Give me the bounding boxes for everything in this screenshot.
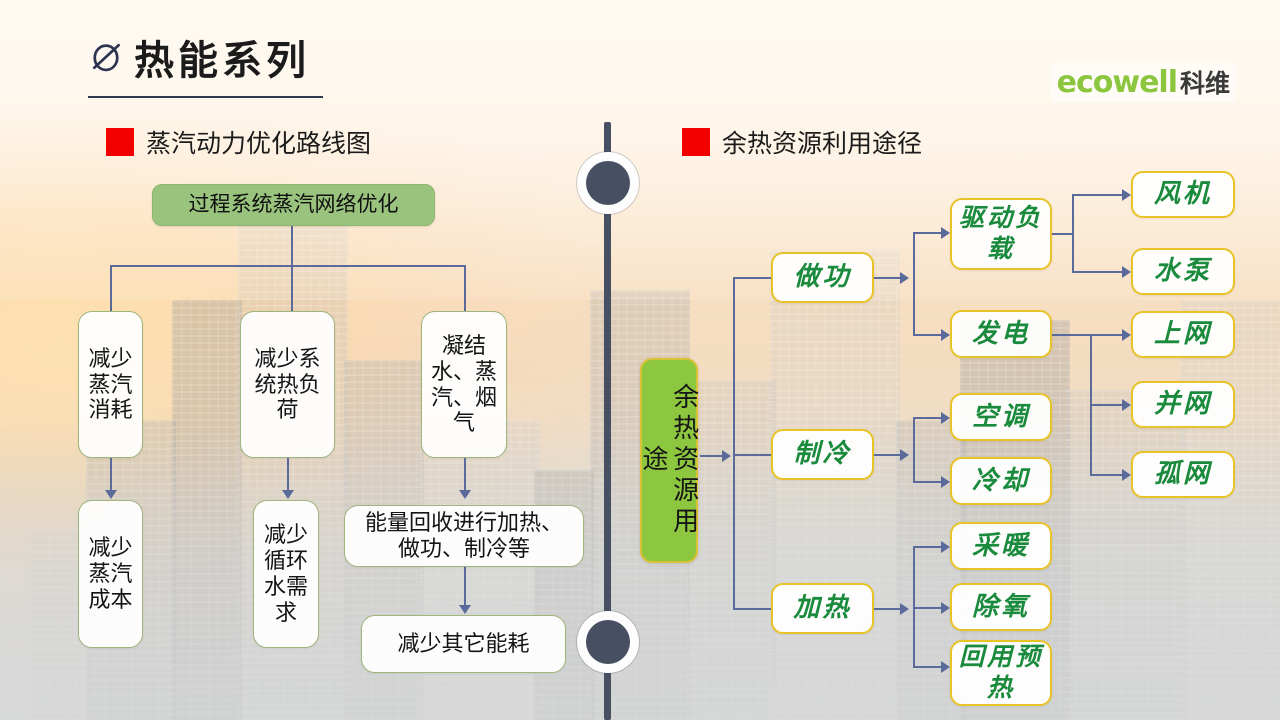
arrow-down-icon <box>459 605 471 614</box>
left-node-condensate-steam-fluegas[interactable]: 凝结水、蒸汽、烟气 <box>421 311 507 458</box>
right-node-air-conditioning[interactable]: 空调 <box>950 393 1052 441</box>
right-node-space-heating[interactable]: 采暖 <box>950 522 1052 570</box>
connector-h <box>1072 271 1124 273</box>
right-node-fan[interactable]: 风机 <box>1131 171 1235 218</box>
divider-dot-bottom <box>577 611 639 673</box>
right-node-island-grid[interactable]: 孤网 <box>1131 451 1235 498</box>
connector-v <box>110 458 112 494</box>
left-node-reduce-steam-use[interactable]: 减少蒸汽消耗 <box>78 311 143 458</box>
left-node-reduce-cooling-water[interactable]: 减少循环水需求 <box>253 500 319 648</box>
right-node-water-pump[interactable]: 水泵 <box>1131 248 1235 295</box>
right-node-reuse-preheat[interactable]: 回用预热 <box>950 640 1052 706</box>
left-node-reduce-steam-cost[interactable]: 减少蒸汽成本 <box>78 500 143 648</box>
logo-wordmark: ecowell <box>1057 65 1177 100</box>
connector-bus <box>913 233 915 335</box>
arrow-right-icon <box>1122 399 1131 411</box>
connector-v <box>464 458 466 494</box>
connector-drop <box>110 265 112 311</box>
arrow-right-icon <box>1122 329 1131 341</box>
connector-h <box>913 666 943 668</box>
title-underline <box>88 96 323 98</box>
arrow-right-icon <box>941 227 950 239</box>
arrow-right-icon <box>941 661 950 673</box>
arrow-down-icon <box>459 490 471 499</box>
right-node-cooling[interactable]: 制冷 <box>771 429 874 480</box>
connector-h <box>733 454 771 456</box>
connector-v <box>464 566 466 608</box>
left-node-reduce-other-energy[interactable]: 减少其它能耗 <box>361 615 566 673</box>
connector-h <box>1072 194 1124 196</box>
connector-h <box>874 608 902 610</box>
connector-h <box>913 417 943 419</box>
arrow-down-icon <box>105 490 117 499</box>
divider-dot-top <box>577 152 639 214</box>
right-node-grid-export[interactable]: 上网 <box>1131 311 1235 358</box>
connector-h <box>1052 233 1072 235</box>
ecowell-logo: ecowell 科维 <box>1051 62 1236 102</box>
connector-drop <box>464 265 466 311</box>
right-node-cooling-process[interactable]: 冷却 <box>950 457 1052 505</box>
left-node-reduce-heat-load[interactable]: 减少系统热负荷 <box>240 311 335 458</box>
background-photo <box>0 0 1280 720</box>
connector-h <box>733 608 771 610</box>
right-node-work[interactable]: 做功 <box>771 252 874 303</box>
connector-h <box>874 277 902 279</box>
right-node-power-generation[interactable]: 发电 <box>950 310 1052 358</box>
connector-v <box>287 458 289 494</box>
right-node-drive-load[interactable]: 驱动负载 <box>950 198 1052 270</box>
connector-h <box>1052 334 1090 336</box>
left-node-energy-recovery[interactable]: 能量回收进行加热、做功、制冷等 <box>344 505 584 567</box>
right-node-heating[interactable]: 加热 <box>771 583 874 634</box>
connector-root-stem <box>291 226 293 266</box>
logo-chinese-name: 科维 <box>1180 64 1230 100</box>
connector-h <box>913 546 943 548</box>
right-node-deaeration[interactable]: 除氧 <box>950 583 1052 631</box>
arrow-right-icon <box>722 450 731 462</box>
connector-bus-level1 <box>733 278 735 610</box>
connector-h <box>913 334 943 336</box>
connector-h <box>913 481 943 483</box>
red-swatch-icon <box>682 128 710 156</box>
arrow-down-icon <box>282 490 294 499</box>
section-header-right: 余热资源利用途径 <box>682 124 922 160</box>
section-label-left: 蒸汽动力优化路线图 <box>146 124 371 160</box>
arrow-right-icon <box>941 476 950 488</box>
arrow-right-icon <box>1122 189 1131 201</box>
left-root-node[interactable]: 过程系统蒸汽网络优化 <box>152 184 435 226</box>
page-title: 热能系列 <box>134 28 310 86</box>
connector-h <box>1090 474 1124 476</box>
connector-bus <box>110 265 465 267</box>
connector-h <box>874 454 902 456</box>
connector-h <box>1090 334 1124 336</box>
connector-h <box>700 455 724 457</box>
arrow-right-icon <box>1122 266 1131 278</box>
photo-overlay-veil <box>0 0 1280 720</box>
red-swatch-icon <box>106 128 134 156</box>
slashed-circle-icon <box>88 38 124 74</box>
arrow-right-icon <box>941 602 950 614</box>
connector-bus <box>1072 195 1074 272</box>
connector-bus <box>913 417 915 482</box>
arrow-right-icon <box>900 449 909 461</box>
right-node-grid-connected[interactable]: 并网 <box>1131 381 1235 428</box>
arrow-right-icon <box>941 412 950 424</box>
arrow-right-icon <box>900 272 909 284</box>
connector-h <box>1090 404 1124 406</box>
connector-h <box>913 232 943 234</box>
arrow-right-icon <box>900 603 909 615</box>
arrow-right-icon <box>941 541 950 553</box>
center-node-waste-heat-uses[interactable]: 余热资源用途 <box>640 358 698 563</box>
section-label-right: 余热资源利用途径 <box>722 124 922 160</box>
slide-canvas: 热能系列 ecowell 科维 蒸汽动力优化路线图 余热资源利用途径 过程系统蒸… <box>0 0 1280 720</box>
connector-h <box>733 277 771 279</box>
arrow-right-icon <box>941 329 950 341</box>
connector-drop <box>291 265 293 311</box>
connector-h <box>913 607 943 609</box>
section-header-left: 蒸汽动力优化路线图 <box>106 124 371 160</box>
arrow-right-icon <box>1122 469 1131 481</box>
